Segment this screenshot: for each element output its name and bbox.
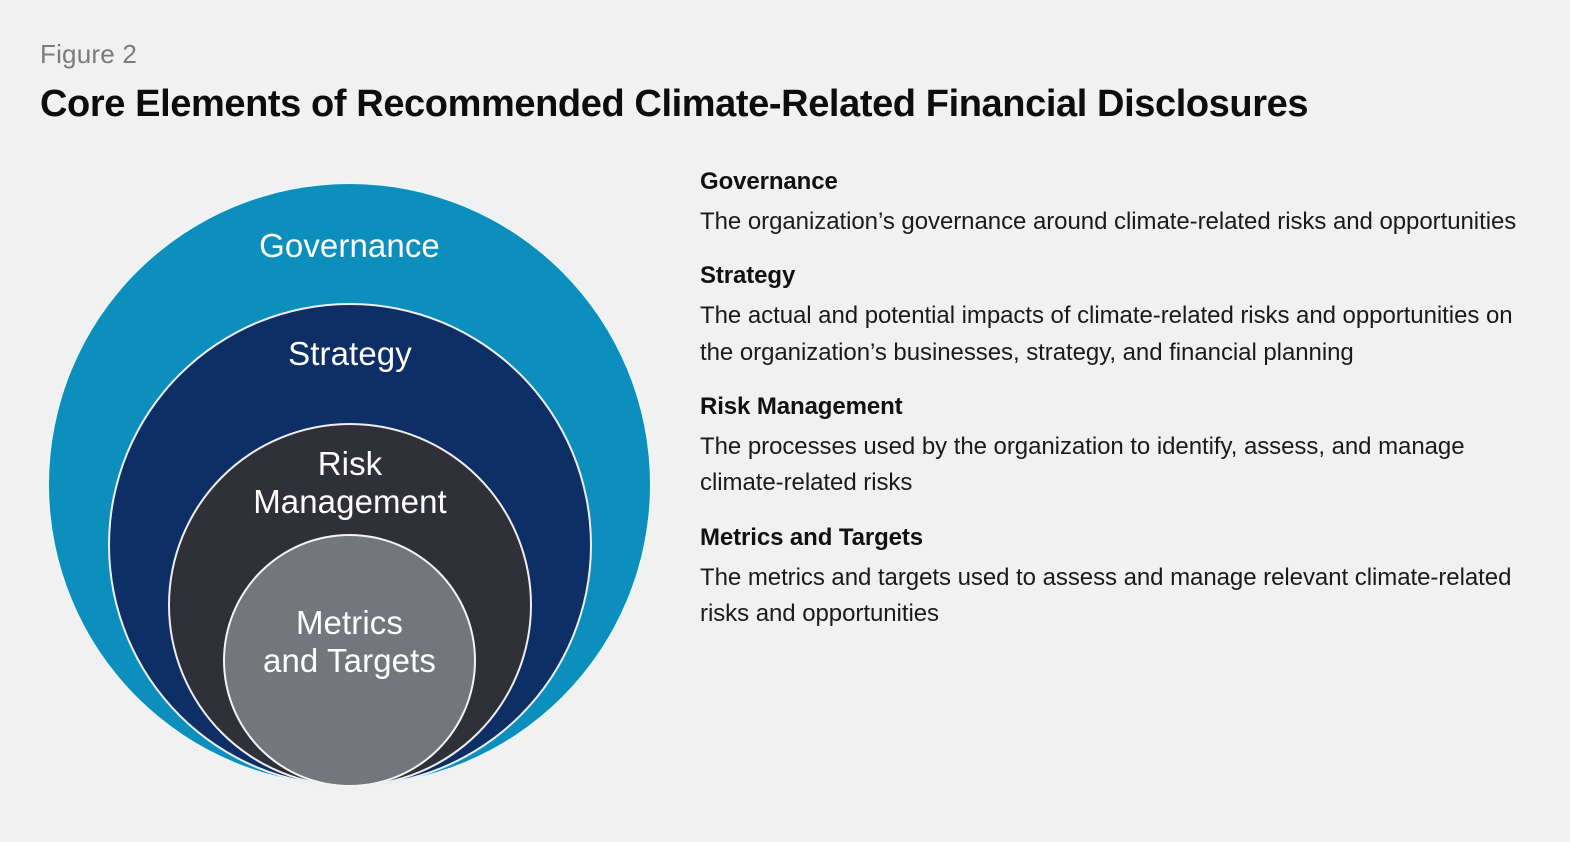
circle-metrics-and-targets[interactable]: Metrics and Targets [223,534,476,787]
detail-block-governance: Governance The organization’s governance… [700,168,1550,240]
detail-body-metrics-and-targets: The metrics and targets used to assess a… [700,560,1550,633]
detail-body-risk-management: The processes used by the organization t… [700,429,1550,502]
concentric-circles-diagram: Governance Strategy Risk Management Metr… [0,0,690,842]
detail-body-governance: The organization’s governance around cli… [700,204,1550,240]
detail-block-metrics-and-targets: Metrics and Targets The metrics and targ… [700,524,1550,633]
detail-heading-strategy: Strategy [700,262,1550,291]
detail-block-strategy: Strategy The actual and potential impact… [700,262,1550,371]
detail-heading-governance: Governance [700,168,1550,197]
element-descriptions-list: Governance The organization’s governance… [700,168,1550,632]
circle-label-metrics-and-targets: Metrics and Targets [263,604,436,785]
detail-body-strategy: The actual and potential impacts of clim… [700,298,1550,371]
detail-heading-risk-management: Risk Management [700,393,1550,422]
detail-block-risk-management: Risk Management The processes used by th… [700,393,1550,502]
detail-heading-metrics-and-targets: Metrics and Targets [700,524,1550,553]
